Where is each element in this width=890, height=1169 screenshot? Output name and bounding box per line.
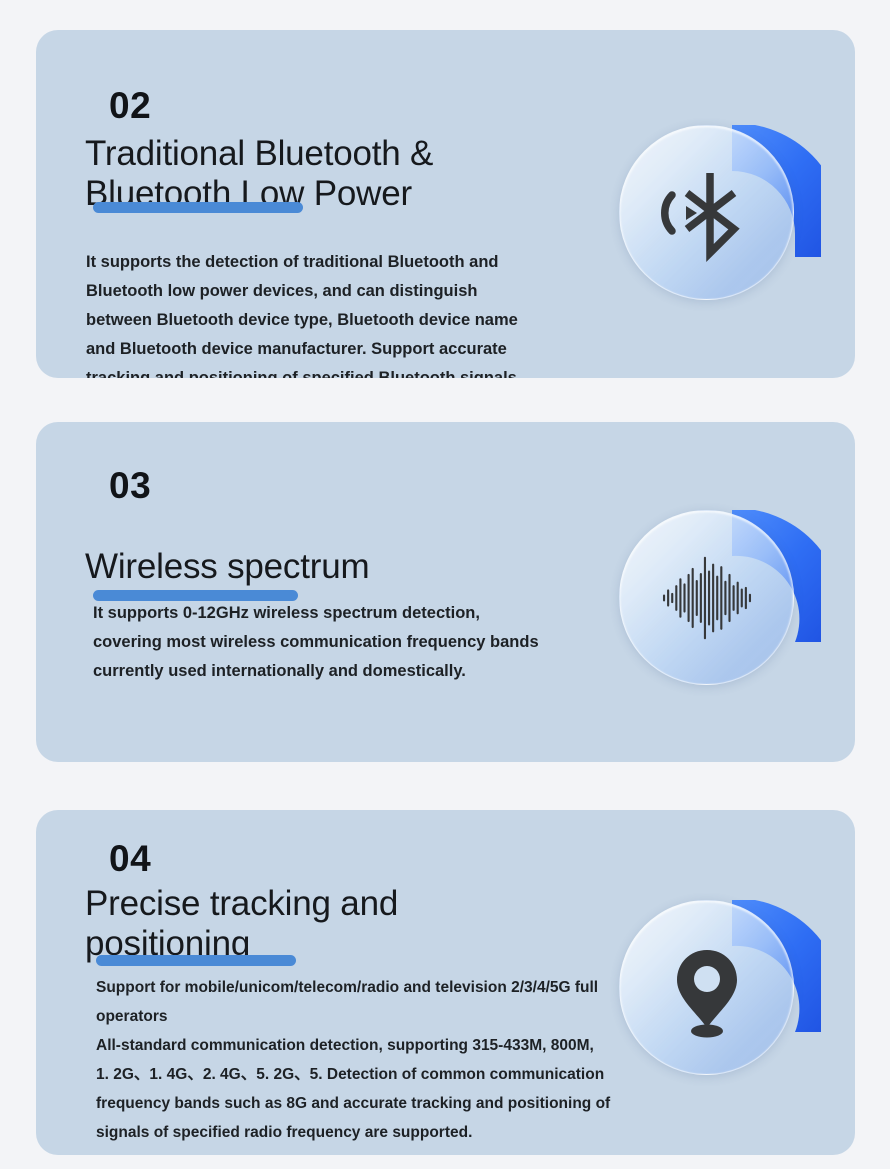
waveform-bar [748,593,750,602]
waveform-bar [687,573,689,621]
glass-circle [619,125,794,300]
feature-card-03: 03 Wireless spectrum It supports 0-12GHz… [36,422,855,762]
waveform-bar [707,570,709,625]
waveform-bar [695,579,697,615]
waveform-bar [716,575,718,620]
waveform-bar [744,586,746,608]
waveform-bar [703,556,705,639]
waveform-bar [667,589,669,606]
feature-card-02: 02 Traditional Bluetooth & Bluetooth Low… [36,30,855,378]
waveform-bar [724,580,726,614]
waveform-bar [728,573,730,621]
card-04-accent-underline [96,955,296,966]
waveform-bar [720,566,722,630]
waveform-bar [699,573,701,623]
waveform-bar [683,583,685,612]
waveform-bar [679,578,681,618]
card-03-headline: Wireless spectrum [85,547,625,587]
waveform-bar [740,588,742,607]
card-04-headline: Precise tracking and positioning [85,884,625,965]
waveform-bar [736,581,738,614]
waveform-bar [712,563,714,632]
waveform-bar [675,585,677,611]
card-03-body: It supports 0-12GHz wireless spectrum de… [93,599,633,686]
waveform-bar [662,594,664,601]
bluetooth-icon-cluster [611,105,821,315]
glass-circle [619,510,794,685]
location-icon-cluster [611,880,821,1090]
card-03-number: 03 [109,467,151,504]
waveform-bar [732,585,734,611]
feature-card-04: 04 Precise tracking and positioning Supp… [36,810,855,1155]
card-04-body: Support for mobile/unicom/telecom/radio … [96,973,666,1147]
card-02-body: It supports the detection of traditional… [86,248,616,378]
waveform-bar [691,567,693,627]
glass-circle [619,900,794,1075]
spectrum-icon-cluster [611,490,821,700]
card-02-number: 02 [109,87,151,124]
bluetooth-icon [657,163,757,263]
card-02-accent-underline [93,202,303,213]
waveform-bar [671,592,673,602]
spectrum-waveform-icon [657,548,757,648]
location-pin-icon [657,938,757,1038]
feature-sections-page: 02 Traditional Bluetooth & Bluetooth Low… [0,0,890,1169]
card-04-number: 04 [109,840,151,877]
